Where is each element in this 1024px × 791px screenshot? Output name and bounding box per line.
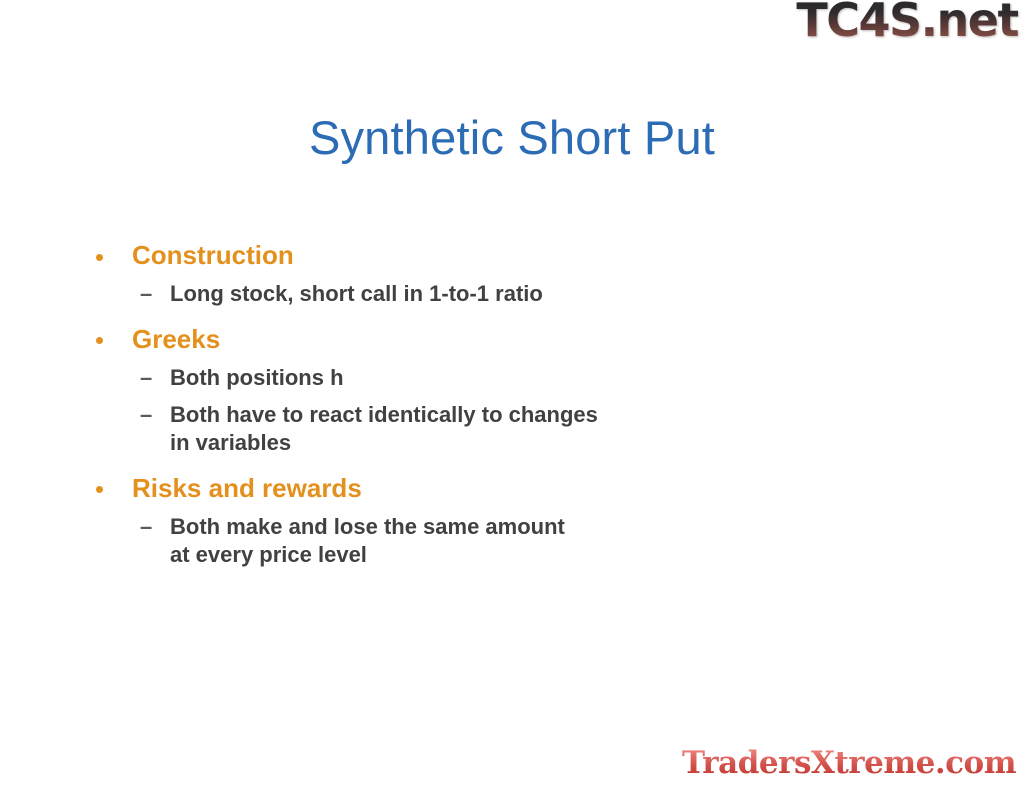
bullet-dot-icon xyxy=(96,337,103,344)
subbullet-line-2: in variables xyxy=(170,429,788,457)
tradersxtreme-watermark-text: TradersXtreme.com xyxy=(682,745,1016,781)
bullet-dot-icon xyxy=(96,254,103,261)
bullet-label: Greeks xyxy=(132,324,220,354)
bullet-label: Construction xyxy=(132,240,294,270)
subbullet-line-2: at every price level xyxy=(170,541,788,569)
slide-canvas: TC4S.net Synthetic Short Put Constructio… xyxy=(0,0,1024,791)
subbullet-risks-1: – Both make and lose the same amount at … xyxy=(88,513,788,569)
spacer xyxy=(88,457,788,463)
bullet-greeks: Greeks xyxy=(88,324,788,355)
bullet-construction: Construction xyxy=(88,240,788,271)
subbullet-line-1: Long stock, short call in 1-to-1 ratio xyxy=(170,280,788,308)
bullet-label: Risks and rewards xyxy=(132,473,362,503)
page-title: Synthetic Short Put xyxy=(0,112,1024,164)
tc4s-logo: TC4S.net xyxy=(796,0,1018,44)
dlsub-watermark: DLSUB.COM DLSUB.COM xyxy=(367,369,600,403)
tradersxtreme-watermark: TradersXtreme.com TradersXtreme.com xyxy=(682,748,1016,779)
dash-icon: – xyxy=(140,513,152,541)
bullet-dot-icon xyxy=(96,486,103,493)
subbullet-line-1: Both make and lose the same amount xyxy=(170,513,788,541)
dlsub-watermark-text: DLSUB.COM xyxy=(367,366,600,406)
spacer xyxy=(88,308,788,314)
subbullet-construction-1: – Long stock, short call in 1-to-1 ratio xyxy=(88,280,788,308)
subbullet-greeks-2: – Both have to react identically to chan… xyxy=(88,401,788,457)
dash-icon: – xyxy=(140,280,152,308)
bullet-risks-and-rewards: Risks and rewards xyxy=(88,473,788,504)
dash-icon: – xyxy=(140,401,152,429)
dash-icon: – xyxy=(140,364,152,392)
